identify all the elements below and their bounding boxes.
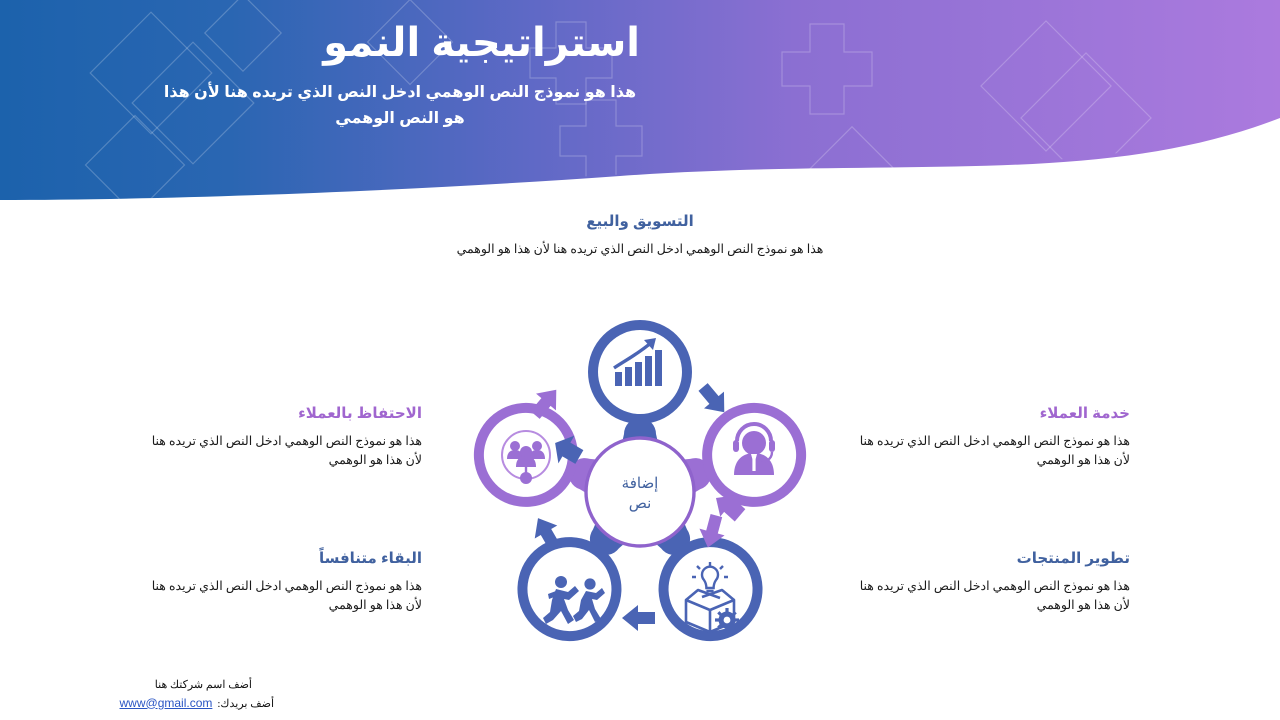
callout-title-marketing-sales: التسويق والبيع bbox=[440, 212, 840, 232]
callout-customer-retention: الاحتفاظ بالعملاء هذا هو نموذج النص الوه… bbox=[150, 404, 422, 470]
footer-email-label: أضف بريدك: bbox=[217, 696, 274, 713]
callout-body-stay-competitive: هذا هو نموذج النص الوهمي ادخل النص الذي … bbox=[150, 577, 422, 616]
header-text-block: استراتيجية النمو هذا هو نموذج النص الوهم… bbox=[140, 18, 640, 131]
page-title: استراتيجية النمو bbox=[140, 18, 640, 68]
callout-body-customer-retention: هذا هو نموذج النص الوهمي ادخل النص الذي … bbox=[150, 432, 422, 471]
callout-stay-competitive: البقاء متنافساً هذا هو نموذج النص الوهمي… bbox=[150, 549, 422, 615]
radial-diagram: إضافة نص bbox=[440, 300, 840, 660]
footer-email-row: أضف بريدك: www@gmail.com bbox=[14, 694, 274, 713]
callout-marketing-sales: التسويق والبيع هذا هو نموذج النص الوهمي … bbox=[440, 212, 840, 259]
hub-circle[interactable] bbox=[586, 438, 694, 546]
callout-title-customer-service: خدمة العملاء bbox=[858, 404, 1130, 424]
callout-customer-service: خدمة العملاء هذا هو نموذج النص الوهمي اد… bbox=[858, 404, 1130, 470]
callout-body-marketing-sales: هذا هو نموذج النص الوهمي ادخل النص الذي … bbox=[440, 240, 840, 259]
hub-label-line2: نص bbox=[629, 496, 652, 512]
callout-title-product-development: تطوير المنتجات bbox=[858, 549, 1130, 569]
footer: أضف اسم شركتك هنا أضف بريدك: www@gmail.c… bbox=[14, 677, 274, 712]
callout-title-customer-retention: الاحتفاظ بالعملاء bbox=[150, 404, 422, 424]
header-banner: استراتيجية النمو هذا هو نموذج النص الوهم… bbox=[0, 0, 1280, 200]
footer-email-link[interactable]: www@gmail.com bbox=[120, 694, 213, 712]
callout-product-development: تطوير المنتجات هذا هو نموذج النص الوهمي … bbox=[858, 549, 1130, 615]
callout-title-stay-competitive: البقاء متنافساً bbox=[150, 549, 422, 569]
hub-label-line1: إضافة bbox=[622, 476, 659, 492]
page-subtitle: هذا هو نموذج النص الوهمي ادخل النص الذي … bbox=[160, 80, 640, 131]
diagram-svg: إضافة نص bbox=[440, 300, 840, 660]
footer-company-name: أضف اسم شركتك هنا bbox=[14, 677, 274, 694]
callout-body-product-development: هذا هو نموذج النص الوهمي ادخل النص الذي … bbox=[858, 577, 1130, 616]
callout-body-customer-service: هذا هو نموذج النص الوهمي ادخل النص الذي … bbox=[858, 432, 1130, 471]
